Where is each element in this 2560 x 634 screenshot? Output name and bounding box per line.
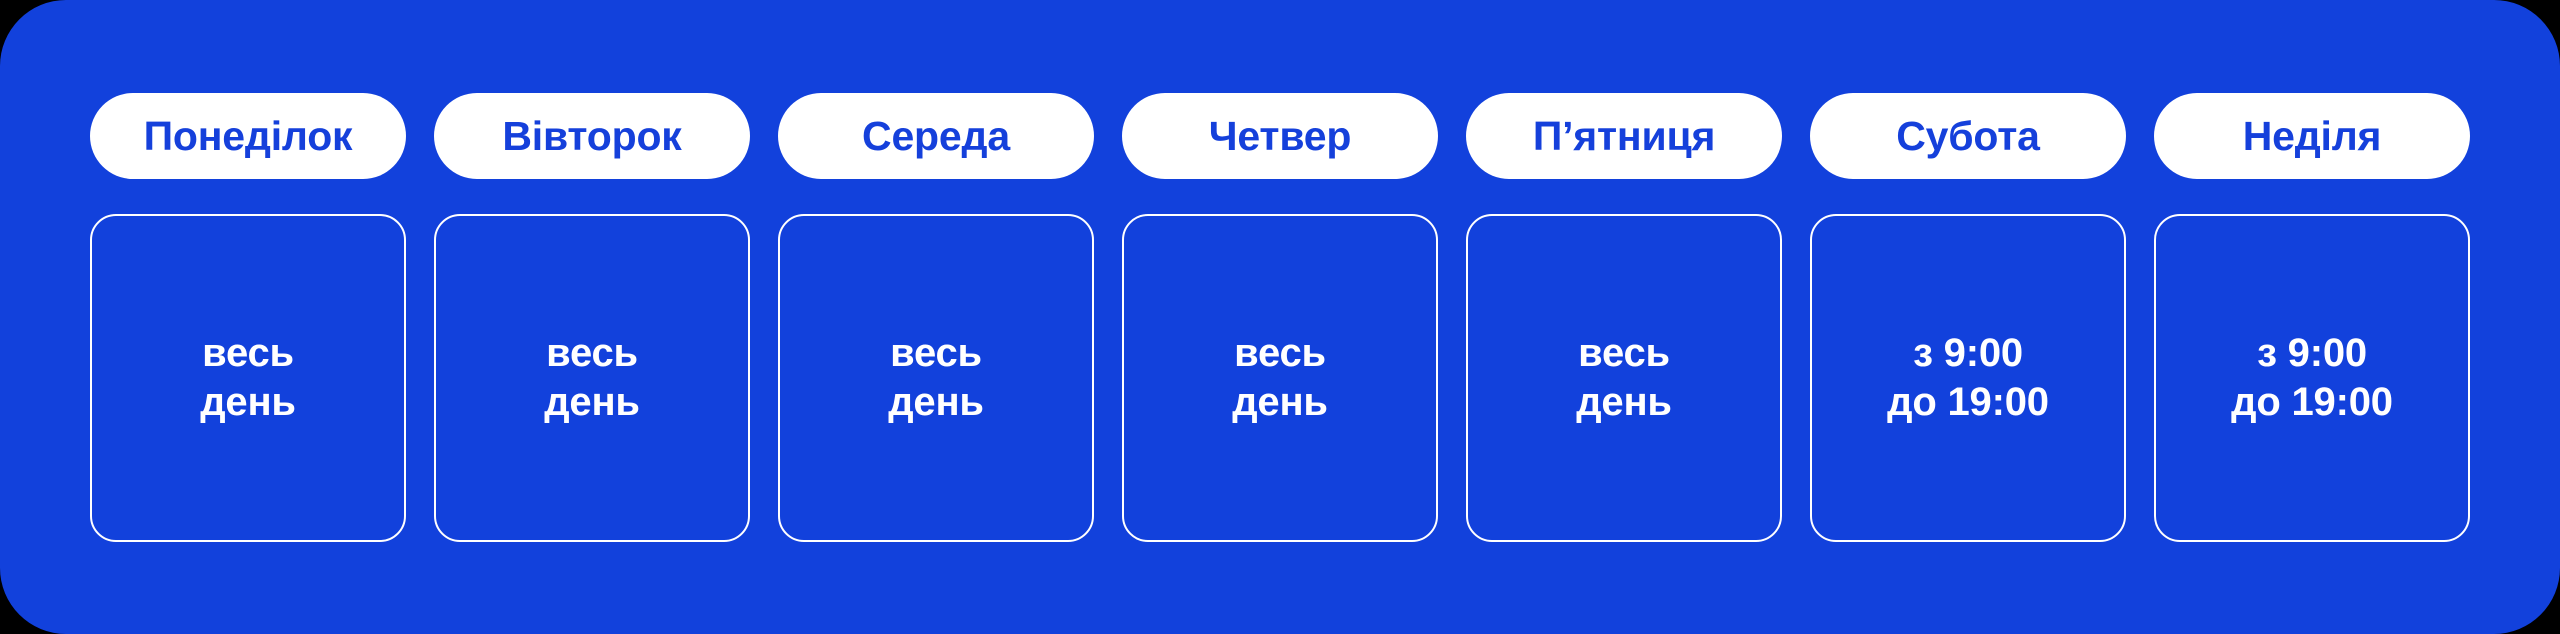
day-pill-saturday[interactable]: Субота [1810,93,2126,179]
day-name-label: Понеділок [144,116,353,157]
day-hours-label: з 9:00 до 19:00 [1887,329,2049,427]
week-grid: Понеділок весь день Вівторок весь день С… [90,0,2470,634]
day-hours-card-tuesday[interactable]: весь день [434,214,750,542]
day-hours-card-saturday[interactable]: з 9:00 до 19:00 [1810,214,2126,542]
day-name-label: Четвер [1209,116,1351,157]
day-hours-card-thursday[interactable]: весь день [1122,214,1438,542]
day-pill-wednesday[interactable]: Середа [778,93,1094,179]
day-pill-monday[interactable]: Понеділок [90,93,406,179]
day-hours-card-monday[interactable]: весь день [90,214,406,542]
day-column-monday: Понеділок весь день [90,0,406,542]
day-column-thursday: Четвер весь день [1122,0,1438,542]
day-pill-sunday[interactable]: Неділя [2154,93,2470,179]
day-column-sunday: Неділя з 9:00 до 19:00 [2154,0,2470,542]
day-hours-label: з 9:00 до 19:00 [2231,329,2393,427]
day-hours-label: весь день [200,329,296,427]
day-pill-tuesday[interactable]: Вівторок [434,93,750,179]
day-column-saturday: Субота з 9:00 до 19:00 [1810,0,2126,542]
day-hours-label: весь день [888,329,984,427]
day-hours-card-sunday[interactable]: з 9:00 до 19:00 [2154,214,2470,542]
weekly-schedule-panel: Понеділок весь день Вівторок весь день С… [0,0,2560,634]
day-column-wednesday: Середа весь день [778,0,1094,542]
day-name-label: Середа [862,116,1010,157]
day-hours-label: весь день [544,329,640,427]
day-name-label: П’ятниця [1533,116,1715,157]
day-name-label: Субота [1896,116,2039,157]
day-name-label: Вівторок [502,116,681,157]
day-pill-friday[interactable]: П’ятниця [1466,93,1782,179]
day-hours-card-wednesday[interactable]: весь день [778,214,1094,542]
day-hours-card-friday[interactable]: весь день [1466,214,1782,542]
day-name-label: Неділя [2243,116,2382,157]
day-column-friday: П’ятниця весь день [1466,0,1782,542]
day-pill-thursday[interactable]: Четвер [1122,93,1438,179]
day-hours-label: весь день [1576,329,1672,427]
day-column-tuesday: Вівторок весь день [434,0,750,542]
day-hours-label: весь день [1232,329,1328,427]
